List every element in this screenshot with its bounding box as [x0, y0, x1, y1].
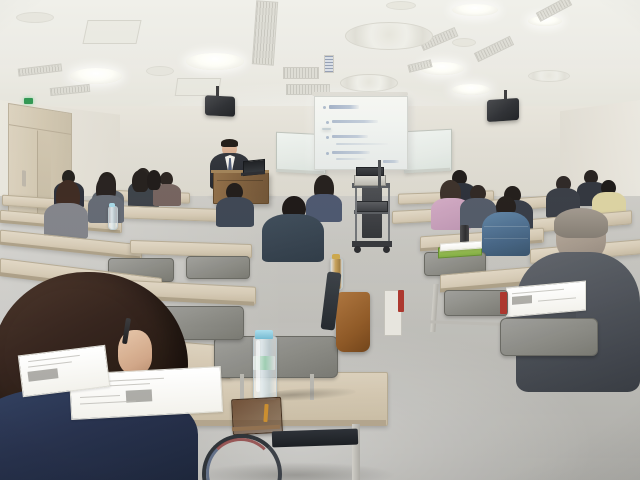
water-bottle-mid — [322, 128, 331, 130]
av-cart-leg — [355, 188, 357, 244]
ceiling-diffuser — [340, 74, 398, 92]
vest-quilt-line — [484, 238, 528, 239]
ceiling-speaker — [205, 95, 235, 117]
vest-quilt-line — [484, 226, 528, 227]
water-bottle-row2 — [108, 206, 118, 230]
ceiling-diffuser — [345, 22, 433, 50]
av-cart-leg — [388, 188, 390, 244]
av-cart-wheel — [354, 246, 361, 253]
av-cart-wheel — [383, 246, 390, 253]
attendee-hair — [147, 170, 161, 190]
ceiling-diffuser — [528, 70, 570, 82]
ceiling-plate — [16, 12, 54, 23]
door-handle[interactable] — [22, 170, 26, 187]
slide-bullet-line — [332, 120, 378, 123]
attendee-blue-vest — [482, 212, 530, 256]
slide-bullet-icon — [323, 106, 326, 109]
slide-subline — [336, 143, 388, 145]
black-case — [272, 429, 359, 448]
slide-bullet-line — [332, 151, 370, 154]
lectern-face-line — [217, 180, 263, 181]
slide-subline — [336, 158, 366, 160]
chair-back — [444, 290, 508, 316]
ceiling-speaker — [487, 98, 519, 122]
ceiling-light — [70, 68, 122, 84]
ceiling-light — [452, 84, 490, 95]
attendee-torso — [262, 214, 324, 262]
bottle-cap — [332, 254, 340, 259]
attendee-torso — [216, 197, 254, 227]
attendee-torso — [44, 203, 88, 239]
av-equipment-unit — [356, 201, 388, 212]
lecture-room-photo: Seminar lecture room with presenter and … — [0, 0, 640, 480]
slide-bullet-icon — [326, 152, 329, 155]
exit-sign-icon — [24, 98, 33, 104]
ceiling-vent — [324, 55, 334, 73]
chair-back — [500, 318, 598, 356]
av-cart-pole — [378, 160, 381, 188]
ceiling-plate — [386, 1, 416, 10]
ceiling-light — [452, 4, 498, 16]
ceiling-hatch — [82, 20, 141, 44]
ceiling-plate — [146, 66, 174, 76]
chair-accent — [500, 292, 507, 314]
slide-page-marker — [383, 160, 399, 163]
slide-bullet-line — [332, 135, 368, 138]
slide-bullet-icon — [326, 121, 329, 124]
presenter-hair — [221, 139, 238, 147]
bottle-cap — [255, 330, 273, 339]
chair-post — [240, 374, 244, 400]
whiteboard-right — [404, 129, 452, 174]
chair-accent — [398, 290, 404, 312]
ceiling-light — [186, 53, 244, 70]
av-equipment-unit — [354, 175, 386, 186]
attendee-torso — [88, 195, 124, 223]
ceiling-vent — [252, 0, 278, 65]
ceiling-hatch — [175, 78, 222, 96]
chair-back — [186, 256, 250, 279]
shoulder-bag — [336, 292, 370, 352]
slide-title-line — [329, 105, 359, 109]
ceiling-vent — [283, 67, 319, 79]
slide-bullet-icon — [326, 136, 329, 139]
bottle-highlight — [256, 340, 260, 392]
projection-screen — [314, 96, 408, 170]
ceiling-plate — [452, 38, 476, 47]
foreground-attendee-right-hair — [554, 208, 608, 238]
bottle-cap — [109, 203, 115, 207]
